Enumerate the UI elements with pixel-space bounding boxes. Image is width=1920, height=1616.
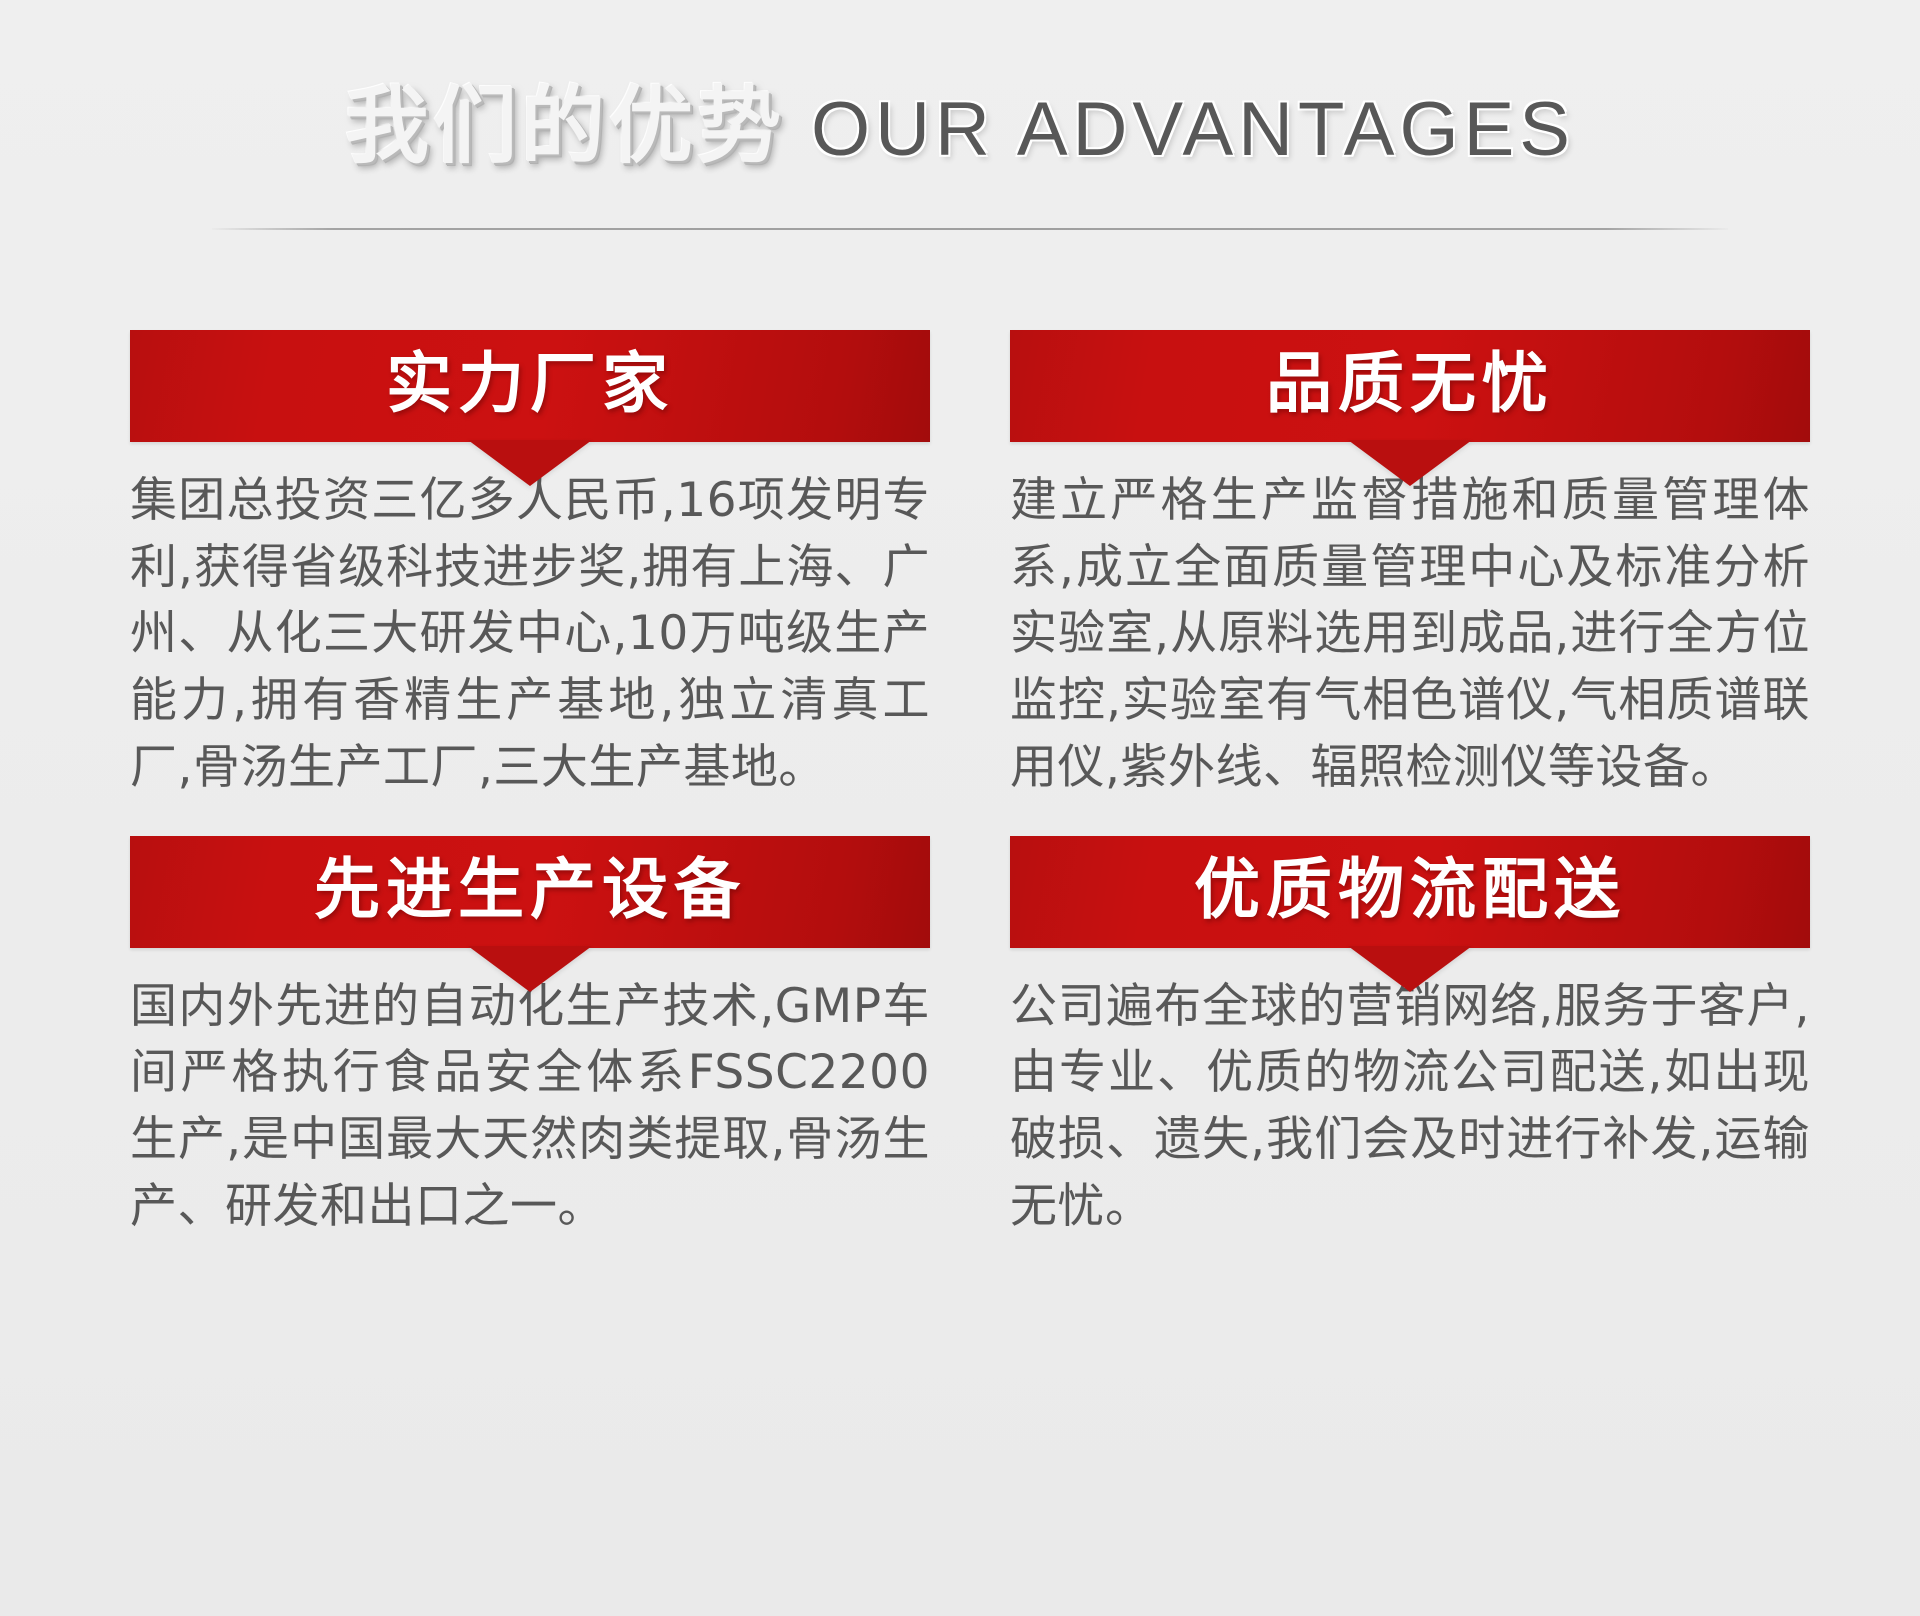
card-banner: 品质无忧 — [1010, 330, 1810, 442]
banner-triangle-icon — [468, 440, 592, 486]
card-banner-label: 优质物流配送 — [1194, 857, 1626, 927]
banner-wrap: 优质物流配送 — [1010, 836, 1810, 948]
banner-triangle-icon — [468, 946, 592, 992]
advantage-card-advanced-equipment: 先进生产设备 国内外先进的自动化生产技术,GMP车间严格执行食品安全体系FSSC… — [130, 836, 930, 1241]
banner-wrap: 实力厂家 — [130, 330, 930, 442]
card-body-text: 国内外先进的自动化生产技术,GMP车间严格执行食品安全体系FSSC2200生产,… — [130, 974, 930, 1241]
advantage-card-strength-manufacturer: 实力厂家 集团总投资三亿多人民币,16项发明专利,获得省级科技进步奖,拥有上海、… — [130, 330, 930, 802]
card-banner: 先进生产设备 — [130, 836, 930, 948]
card-banner: 实力厂家 — [130, 330, 930, 442]
banner-triangle-icon — [1348, 440, 1472, 486]
advantages-grid: 实力厂家 集团总投资三亿多人民币,16项发明专利,获得省级科技进步奖,拥有上海、… — [0, 330, 1920, 1241]
advantage-card-quality-logistics: 优质物流配送 公司遍布全球的营销网络,服务于客户,由专业、优质的物流公司配送,如… — [1010, 836, 1810, 1241]
banner-wrap: 品质无忧 — [1010, 330, 1810, 442]
card-banner-label: 先进生产设备 — [314, 857, 746, 927]
page-header: 我们的优势OUR ADVANTAGES — [0, 84, 1920, 168]
page-title-cn: 我们的优势 — [345, 84, 785, 168]
header-divider — [212, 228, 1728, 230]
card-banner-label: 品质无忧 — [1266, 351, 1554, 421]
card-body-text: 公司遍布全球的营销网络,服务于客户,由专业、优质的物流公司配送,如出现破损、遗失… — [1010, 974, 1810, 1241]
banner-triangle-icon — [1348, 946, 1472, 992]
advantages-page: 我们的优势OUR ADVANTAGES 实力厂家 集团总投资三亿多人民币,16项… — [0, 0, 1920, 1616]
card-body-text: 建立严格生产监督措施和质量管理体系,成立全面质量管理中心及标准分析实验室,从原料… — [1010, 468, 1810, 802]
advantage-card-quality-assurance: 品质无忧 建立严格生产监督措施和质量管理体系,成立全面质量管理中心及标准分析实验… — [1010, 330, 1810, 802]
card-body-text: 集团总投资三亿多人民币,16项发明专利,获得省级科技进步奖,拥有上海、广州、从化… — [130, 468, 930, 802]
card-banner: 优质物流配送 — [1010, 836, 1810, 948]
header-title-line: 我们的优势OUR ADVANTAGES — [0, 84, 1920, 168]
page-title-en: OUR ADVANTAGES — [811, 92, 1575, 168]
banner-wrap: 先进生产设备 — [130, 836, 930, 948]
card-banner-label: 实力厂家 — [386, 351, 674, 421]
